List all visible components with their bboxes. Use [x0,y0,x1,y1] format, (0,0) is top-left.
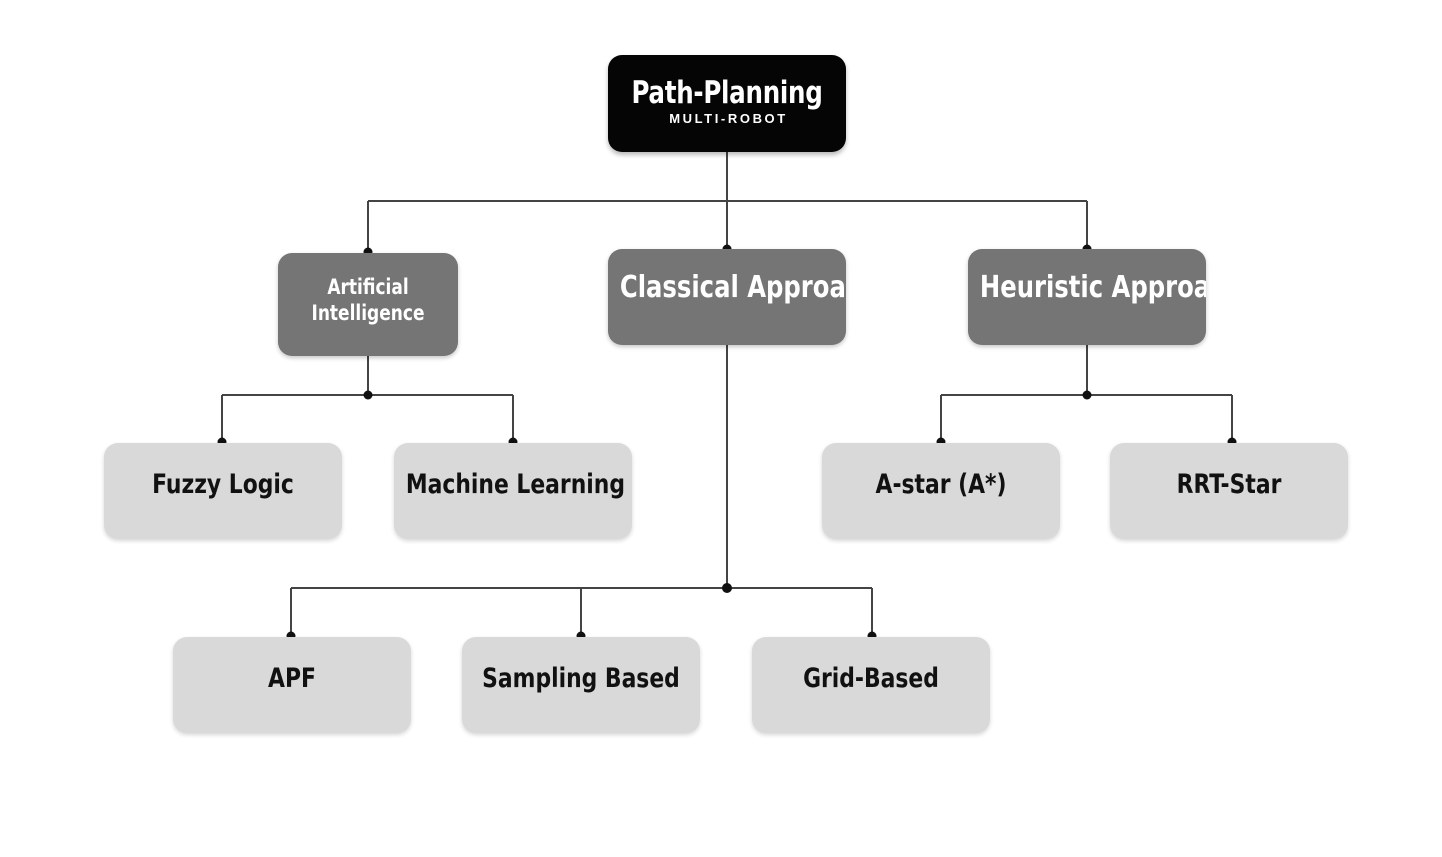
node-label-machine-learning: Machine Learning [406,443,620,500]
node-path-planning-root[interactable]: Path-Planning MULTI-ROBOT [608,55,846,152]
node-fuzzy-logic[interactable]: Fuzzy Logic [104,443,342,539]
dot-heuristic-junction [1083,391,1092,400]
node-classical-approach[interactable]: Classical Approach [608,249,846,345]
node-label-apf: APF [185,637,399,694]
node-label-classical-approach: Classical Approach [620,249,834,305]
node-grid-based[interactable]: Grid-Based [752,637,990,733]
node-heuristic-approach[interactable]: Heuristic Approach [968,249,1206,345]
node-rrt-star[interactable]: RRT-Star [1110,443,1348,539]
node-label-rrt-star: RRT-Star [1122,443,1336,500]
dot-ai-junction [364,391,373,400]
node-label-sampling-based: Sampling Based [474,637,688,694]
node-machine-learning[interactable]: Machine Learning [394,443,632,539]
dot-classical-junction [722,583,732,593]
node-artificial-intelligence[interactable]: Artificial Intelligence [278,253,458,356]
node-label-artificial-intelligence: Artificial Intelligence [287,253,449,326]
node-label-grid-based: Grid-Based [764,637,978,694]
node-sampling-based[interactable]: Sampling Based [462,637,700,733]
node-label-heuristic-approach: Heuristic Approach [980,249,1194,305]
diagram-canvas: Path-Planning MULTI-ROBOT Artificial Int… [0,0,1442,857]
root-title: Path-Planning [622,76,831,110]
node-label-fuzzy-logic: Fuzzy Logic [116,443,330,500]
node-apf[interactable]: APF [173,637,411,733]
node-a-star[interactable]: A-star (A*) [822,443,1060,539]
root-subtitle: MULTI-ROBOT [608,110,846,128]
node-label-a-star: A-star (A*) [834,443,1048,500]
